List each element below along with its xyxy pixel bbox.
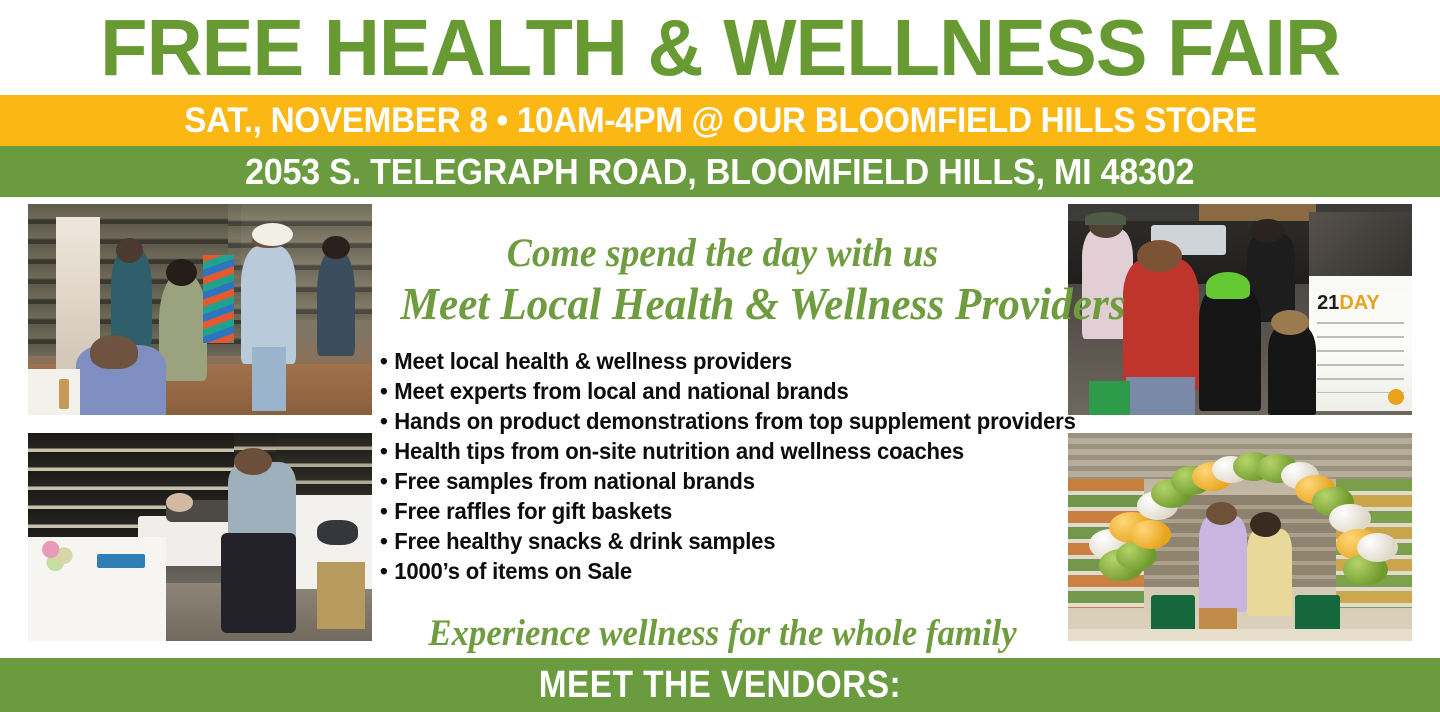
center-content: Come spend the day with us Meet Local He…: [380, 204, 1065, 644]
attendee-red-sweater: [1123, 259, 1199, 390]
shopper-far-right-head: [322, 236, 350, 259]
practitioner-head: [234, 448, 272, 475]
twentyone-day-sign: 21DAY: [1309, 212, 1412, 410]
practitioner-legs: [221, 533, 297, 633]
list-item: 1000’s of items on Sale: [380, 556, 1038, 586]
list-item: Health tips from on-site nutrition and w…: [380, 436, 1038, 466]
list-item: Free raffles for gift baskets: [380, 496, 1038, 526]
flyer-root: FREE HEALTH & WELLNESS FAIR SAT., NOVEMB…: [0, 0, 1440, 712]
meet-the-vendors-label: MEET THE VENDORS:: [539, 665, 901, 705]
feature-bullet-list: Meet local health & wellness providers M…: [380, 346, 1065, 586]
list-item: Meet local health & wellness providers: [380, 346, 1038, 376]
client-shoe: [317, 520, 358, 545]
vendors-footer-bar: MEET THE VENDORS:: [0, 658, 1440, 712]
balloon-white: [1357, 533, 1398, 562]
shopper-olive-jacket: [159, 272, 207, 382]
front-counter: [1068, 629, 1412, 641]
list-item: Hands on product demonstrations from top…: [380, 406, 1038, 436]
shopper-far-right: [317, 250, 355, 356]
attendee-red-jeans: [1126, 377, 1195, 415]
photo-balloon-arch: [1068, 433, 1412, 641]
date-band: SAT., NOVEMBER 8 • 10AM-4PM @ OUR BLOOMF…: [0, 95, 1440, 146]
vendor-table-front: [28, 369, 80, 415]
shopper-colorful-bag: [203, 255, 234, 344]
shopper-teal-head: [116, 238, 144, 263]
photo-shoppers-aisle: [28, 204, 372, 415]
booth-staff-head: [1250, 219, 1284, 242]
product-bottle: [59, 379, 69, 409]
wooden-chair: [317, 562, 365, 629]
child-black-hoodie: [1199, 288, 1261, 410]
photo-shoppers-aisle-scene: [28, 204, 372, 415]
shopper-white-hat: [252, 223, 293, 246]
address-band: 2053 S. TELEGRAPH ROAD, BLOOMFIELD HILLS…: [0, 146, 1440, 197]
staff-lavender-shirt: [1199, 516, 1247, 612]
headline-meet-providers: Meet Local Health & Wellness Providers: [401, 278, 1045, 330]
photo-bodywork-demo-scene: [28, 433, 372, 641]
sign-accent-dot: [1388, 389, 1404, 405]
store-address-text: 2053 S. TELEGRAPH ROAD, BLOOMFIELD HILLS…: [245, 154, 1194, 190]
sign-hero-image: [1309, 212, 1412, 275]
child-younger: [1268, 326, 1316, 415]
photo-bodywork-demo: [28, 433, 372, 641]
staff-lavender-head: [1206, 502, 1237, 525]
seated-attendee-head: [90, 335, 138, 369]
list-item: Free healthy snacks & drink samples: [380, 526, 1038, 556]
shopper-denim-jeans: [252, 347, 286, 410]
attendee-green-cap: [1085, 212, 1126, 225]
staff-tan-blazer: [1247, 529, 1292, 616]
attendee-red-head: [1137, 240, 1182, 272]
green-shopping-basket: [1089, 381, 1130, 415]
sign-headline: 21DAY: [1317, 292, 1380, 315]
reusable-bag-left: [1151, 595, 1196, 632]
sign-word-day: DAY: [1339, 292, 1379, 314]
headline-come-spend: Come spend the day with us: [401, 230, 1045, 276]
client-head: [166, 493, 194, 512]
reusable-bag-right: [1295, 595, 1340, 632]
brochure-stack: [97, 554, 145, 569]
shopper-olive-head: [166, 259, 197, 286]
closing-tagline: Experience wellness for the whole family: [401, 612, 1045, 656]
balloon-white: [1329, 504, 1370, 533]
flyer-title: FREE HEALTH & WELLNESS FAIR: [100, 8, 1340, 88]
title-bar: FREE HEALTH & WELLNESS FAIR: [0, 0, 1440, 95]
sign-number: 21: [1317, 292, 1339, 314]
date-time-location-text: SAT., NOVEMBER 8 • 10AM-4PM @ OUR BLOOMF…: [184, 103, 1257, 139]
flower-arrangement: [35, 533, 80, 575]
list-item: Free samples from national brands: [380, 466, 1038, 496]
photo-balloon-arch-scene: [1068, 433, 1412, 641]
child-younger-head: [1271, 310, 1309, 335]
child-green-cap: [1206, 272, 1251, 299]
sign-body-lines: [1317, 322, 1404, 393]
list-item: Meet experts from local and national bra…: [380, 376, 1038, 406]
